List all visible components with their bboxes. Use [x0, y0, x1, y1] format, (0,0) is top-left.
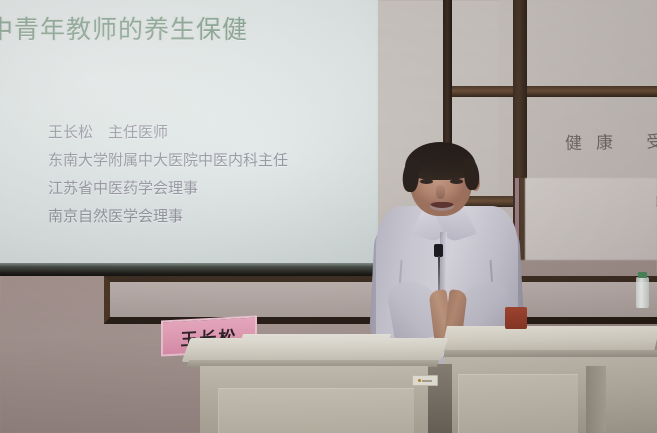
panel-table-top — [441, 326, 657, 352]
sticker-dot-icon — [418, 379, 421, 382]
wall-calligraphy: 健康 受 — [565, 127, 657, 154]
presenter-mouth — [430, 202, 454, 211]
projection-screen: 中青年教师的养生保健 王长松 主任医师 东南大学附属中大医院中医内科主任 江苏省… — [0, 0, 378, 273]
microphone-wire — [438, 256, 440, 290]
lectern-top — [182, 338, 449, 362]
lecture-hall-photo: 健康 受 中青年教师的养生保健 王长松 主任医师 东南大学附属中大医院中医内科主… — [0, 0, 657, 433]
wood-beam-horizontal-upper — [452, 86, 657, 97]
presenter-eye-right — [450, 179, 463, 184]
presenter-eye-left — [420, 179, 433, 184]
slide-title: 中青年教师的养生保健 — [0, 10, 248, 46]
panel-table-leg — [586, 366, 606, 433]
water-bottle-body — [636, 277, 649, 308]
lectern-label-sticker — [412, 375, 438, 386]
slide-body-line: 王长松 主任医师 — [48, 118, 368, 146]
slide-body-line: 江苏省中医药学会理事 — [48, 174, 368, 202]
sticker-line — [422, 380, 432, 382]
slide-body: 王长松 主任医师 东南大学附属中大医院中医内科主任 江苏省中医药学会理事 南京自… — [48, 118, 368, 230]
slide-body-line: 东南大学附属中大医院中医内科主任 — [48, 146, 368, 174]
water-bottle — [636, 272, 649, 308]
presenter-nose — [436, 185, 445, 199]
lectern-front-panel — [218, 388, 414, 433]
panel-table-front-panel — [458, 374, 578, 433]
projection-screen-bottom-bar — [0, 266, 382, 276]
lectern — [186, 334, 444, 433]
slide-body-line: 南京自然医学会理事 — [48, 202, 368, 230]
water-bottle-cap — [638, 272, 647, 278]
chair-back — [505, 307, 527, 329]
panel-table — [444, 326, 657, 433]
